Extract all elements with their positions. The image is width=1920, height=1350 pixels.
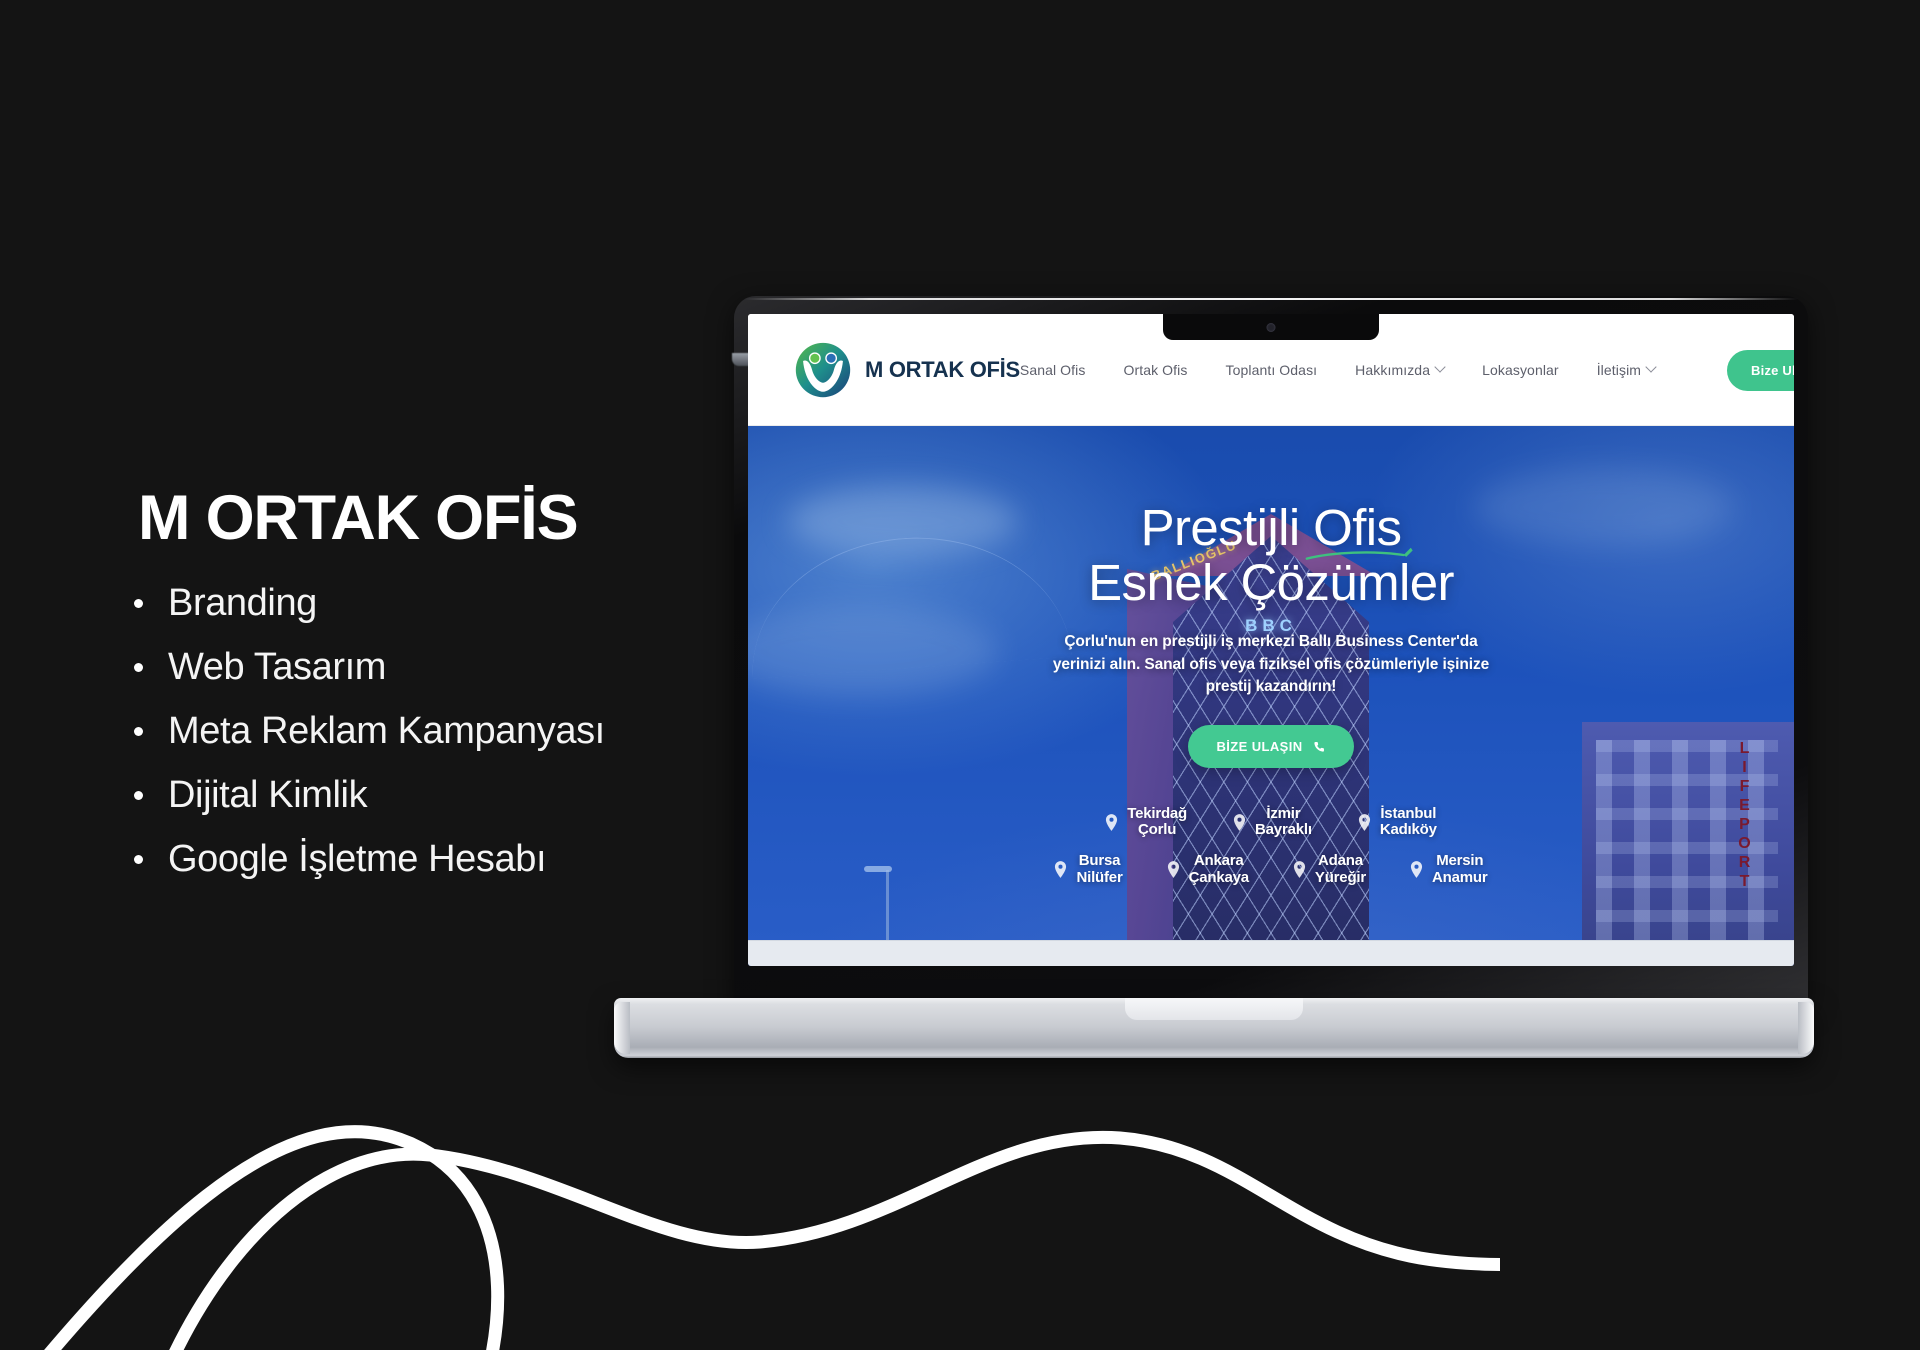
location-text: BursaNilüfer bbox=[1076, 853, 1122, 887]
list-item: Google İşletme Hesabı bbox=[128, 840, 605, 878]
list-item: Dijital Kimlik bbox=[128, 776, 605, 814]
location-text: İstanbulKadıköy bbox=[1380, 806, 1437, 840]
location-item[interactable]: İstanbulKadıköy bbox=[1358, 806, 1437, 840]
nav-label: Ortak Ofis bbox=[1123, 362, 1187, 378]
hero-title-line2: Esnek Çözümler bbox=[748, 555, 1794, 610]
hero-contact-label: BİZE ULAŞIN bbox=[1216, 739, 1302, 754]
locations-row-2: BursaNilüfer AnkaraÇankaya AdanaYüreğir bbox=[748, 853, 1794, 887]
primary-navigation: Sanal Ofis Ortak Ofis Toplantı Odası Hak… bbox=[1020, 350, 1794, 391]
laptop-lid: M ORTAK OFİS Sanal Ofis Ortak Ofis Topla… bbox=[734, 296, 1808, 1006]
base-grip-notch bbox=[1125, 998, 1303, 1020]
list-item: Branding bbox=[128, 584, 605, 622]
laptop-screen: M ORTAK OFİS Sanal Ofis Ortak Ofis Topla… bbox=[748, 314, 1794, 966]
location-item[interactable]: AdanaYüreğir bbox=[1293, 853, 1366, 887]
service-label: Branding bbox=[168, 582, 317, 624]
location-district: Çankaya bbox=[1189, 869, 1249, 886]
nav-item-hakkimizda[interactable]: Hakkımızda bbox=[1355, 362, 1444, 378]
hero-contact-button[interactable]: BİZE ULAŞIN bbox=[1188, 725, 1353, 768]
case-study-panel: M ORTAK OFİS Branding Web Tasarım Meta R… bbox=[0, 0, 720, 1350]
phone-icon bbox=[1313, 740, 1326, 753]
location-city: Adana bbox=[1318, 852, 1363, 869]
location-item[interactable]: MersinAnamur bbox=[1410, 853, 1487, 887]
hero-content: Prestijli Ofis Esnek Çözümler Çorlu'nun … bbox=[748, 426, 1794, 887]
hero-paragraph: Çorlu'nun en prestijli iş merkezi Ballı … bbox=[1036, 631, 1506, 698]
location-text: TekirdağÇorlu bbox=[1127, 806, 1187, 840]
browser-bottom-strip bbox=[748, 940, 1794, 966]
location-text: İzmirBayraklı bbox=[1255, 806, 1312, 840]
location-city: İzmir bbox=[1266, 805, 1300, 822]
navbar-contact-button[interactable]: Bize Ulaşın bbox=[1727, 350, 1794, 391]
laptop-mockup: M ORTAK OFİS Sanal Ofis Ortak Ofis Topla… bbox=[614, 296, 1814, 1096]
location-text: AdanaYüreğir bbox=[1315, 853, 1366, 887]
green-pen-underline-icon bbox=[1305, 546, 1414, 564]
nav-item-sanal-ofis[interactable]: Sanal Ofis bbox=[1020, 362, 1086, 378]
webcam-notch bbox=[1163, 314, 1379, 340]
two-people-circle-logo-icon bbox=[794, 341, 852, 399]
nav-label: Toplantı Odası bbox=[1225, 362, 1317, 378]
nav-label: İletişim bbox=[1597, 362, 1641, 378]
services-list: Branding Web Tasarım Meta Reklam Kampany… bbox=[128, 584, 605, 904]
map-pin-icon bbox=[1233, 814, 1246, 831]
map-pin-icon bbox=[1167, 861, 1180, 878]
hero-section: LIFEPORT BALLIOĞLU BBC Prestijli Ofis Es… bbox=[748, 426, 1794, 966]
service-label: Meta Reklam Kampanyası bbox=[168, 710, 605, 752]
map-pin-icon bbox=[1054, 861, 1067, 878]
location-city: Mersin bbox=[1436, 852, 1483, 869]
service-label: Dijital Kimlik bbox=[168, 774, 367, 816]
bullet-icon bbox=[134, 599, 143, 608]
nav-label: Hakkımızda bbox=[1355, 362, 1430, 378]
brand-logo[interactable]: M ORTAK OFİS bbox=[794, 341, 1020, 399]
hero-title-line1-a: Prestijli bbox=[1141, 499, 1314, 556]
navbar-divider bbox=[748, 425, 1794, 426]
bullet-icon bbox=[134, 855, 143, 864]
locations-list: TekirdağÇorlu İzmirBayraklı İstanbulKadı… bbox=[748, 806, 1794, 887]
location-item[interactable]: BursaNilüfer bbox=[1054, 853, 1122, 887]
map-pin-icon bbox=[1410, 861, 1423, 878]
location-city: Ankara bbox=[1194, 852, 1244, 869]
nav-item-ortak-ofis[interactable]: Ortak Ofis bbox=[1123, 362, 1187, 378]
hero-title-highlight: Ofis bbox=[1313, 500, 1401, 555]
nav-label: Lokasyonlar bbox=[1482, 362, 1559, 378]
location-district: Kadıköy bbox=[1380, 821, 1437, 838]
location-city: İstanbul bbox=[1380, 805, 1436, 822]
location-district: Nilüfer bbox=[1076, 869, 1122, 886]
nav-item-iletisim[interactable]: İletişim bbox=[1597, 362, 1655, 378]
location-district: Yüreğir bbox=[1315, 869, 1366, 886]
map-pin-icon bbox=[1358, 814, 1371, 831]
location-district: Anamur bbox=[1432, 869, 1487, 886]
camera-icon bbox=[1267, 323, 1276, 332]
laptop-base bbox=[614, 998, 1814, 1058]
service-label: Google İşletme Hesabı bbox=[168, 838, 546, 880]
brand-name: M ORTAK OFİS bbox=[865, 357, 1020, 383]
chevron-down-icon bbox=[1645, 361, 1656, 372]
location-district: Bayraklı bbox=[1255, 821, 1312, 838]
page-title: M ORTAK OFİS bbox=[138, 482, 577, 554]
location-item[interactable]: İzmirBayraklı bbox=[1233, 806, 1312, 840]
nav-item-lokasyonlar[interactable]: Lokasyonlar bbox=[1482, 362, 1559, 378]
list-item: Meta Reklam Kampanyası bbox=[128, 712, 605, 750]
hero-title: Prestijli Ofis Esnek Çözümler bbox=[748, 500, 1794, 610]
location-city: Tekirdağ bbox=[1127, 805, 1187, 822]
bullet-icon bbox=[134, 663, 143, 672]
location-item[interactable]: TekirdağÇorlu bbox=[1105, 806, 1187, 840]
location-text: MersinAnamur bbox=[1432, 853, 1487, 887]
navbar-contact-label: Bize Ulaşın bbox=[1751, 363, 1794, 378]
map-pin-icon bbox=[1105, 814, 1118, 831]
map-pin-icon bbox=[1293, 861, 1306, 878]
list-item: Web Tasarım bbox=[128, 648, 605, 686]
chevron-down-icon bbox=[1434, 361, 1445, 372]
bullet-icon bbox=[134, 791, 143, 800]
location-item[interactable]: AnkaraÇankaya bbox=[1167, 853, 1249, 887]
base-left-edge bbox=[614, 1002, 630, 1054]
nav-item-toplanti-odasi[interactable]: Toplantı Odası bbox=[1225, 362, 1317, 378]
base-right-edge bbox=[1798, 1002, 1814, 1054]
locations-row-1: TekirdağÇorlu İzmirBayraklı İstanbulKadı… bbox=[748, 806, 1794, 840]
bullet-icon bbox=[134, 727, 143, 736]
location-district: Çorlu bbox=[1138, 821, 1176, 838]
location-city: Bursa bbox=[1079, 852, 1121, 869]
service-label: Web Tasarım bbox=[168, 646, 386, 688]
nav-label: Sanal Ofis bbox=[1020, 362, 1086, 378]
location-text: AnkaraÇankaya bbox=[1189, 853, 1249, 887]
